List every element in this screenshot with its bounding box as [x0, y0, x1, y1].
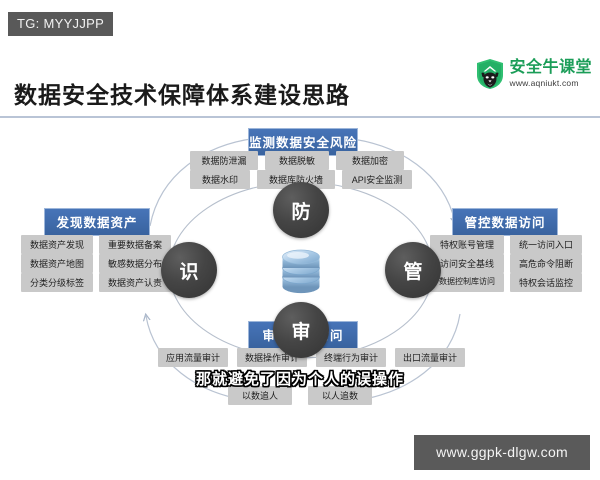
core-node-shen[interactable]: 审 [273, 302, 329, 358]
chip[interactable]: 访问安全基线 [430, 254, 504, 273]
chip[interactable]: 数据资产发现 [21, 235, 93, 254]
chip[interactable]: 分类分级标签 [21, 273, 93, 292]
logo-brand-name: 安全牛课堂 [509, 60, 592, 76]
chip[interactable]: 数据防泄漏 [190, 151, 258, 170]
chip-row-control-1: 特权账号管理 统一访问入口 [430, 235, 582, 254]
chip[interactable]: 高危命令阻断 [510, 254, 582, 273]
quadrant-header-control[interactable]: 管控数据访问 [452, 208, 558, 236]
telegram-tag-badge: TG: MYYJJPP [8, 12, 113, 36]
brand-logo: 安全牛课堂 www.aqniukt.com [475, 58, 592, 90]
burned-in-subtitle: 那就避免了因为个人的误操作 [0, 368, 600, 389]
chip-row-monitor-1: 数据防泄漏 数据脱敏 数据加密 [190, 151, 412, 170]
slide-canvas: TG: MYYJJPP 数据安全技术保障体系建设思路 安全牛课堂 www.aqn… [0, 0, 600, 480]
chip[interactable]: 统一访问入口 [510, 235, 582, 254]
chip-row-control-3: 数据控制库访问 特权会话监控 [430, 273, 582, 292]
chip[interactable]: 应用流量审计 [158, 348, 228, 367]
logo-brand-url: www.aqniukt.com [509, 79, 592, 88]
chip-row-discover-3: 分类分级标签 数据资产认责 [21, 273, 171, 292]
chip[interactable]: 数据水印 [190, 170, 250, 189]
chip[interactable]: 重要数据备案 [99, 235, 171, 254]
chip[interactable]: API安全监测 [342, 170, 412, 189]
chip[interactable]: 数据资产地图 [21, 254, 93, 273]
core-node-guan[interactable]: 管 [385, 242, 441, 298]
core-node-shi[interactable]: 识 [161, 242, 217, 298]
quadrant-header-discover[interactable]: 发现数据资产 [44, 208, 150, 236]
chip[interactable]: 数据资产认责 [99, 273, 171, 292]
chip[interactable]: 出口流量审计 [395, 348, 465, 367]
chip-row-control-2: 访问安全基线 高危命令阻断 [430, 254, 582, 273]
database-cylinder-icon [278, 246, 324, 301]
chip[interactable]: 特权会话监控 [510, 273, 582, 292]
chip[interactable]: 数据脱敏 [265, 151, 329, 170]
shield-bull-logo-icon [475, 58, 505, 90]
site-watermark: www.ggpk-dlgw.com [414, 435, 590, 470]
chip[interactable]: 数据加密 [336, 151, 404, 170]
chip[interactable]: 特权账号管理 [430, 235, 504, 254]
page-title: 数据安全技术保障体系建设思路 [14, 76, 350, 110]
chip-row-discover-2: 数据资产地图 敏感数据分布 [21, 254, 171, 273]
chip[interactable]: 终端行为审计 [316, 348, 386, 367]
chip[interactable]: 数据控制库访问 [430, 273, 504, 292]
chip-row-discover-1: 数据资产发现 重要数据备案 [21, 235, 171, 254]
core-node-fang[interactable]: 防 [273, 182, 329, 238]
